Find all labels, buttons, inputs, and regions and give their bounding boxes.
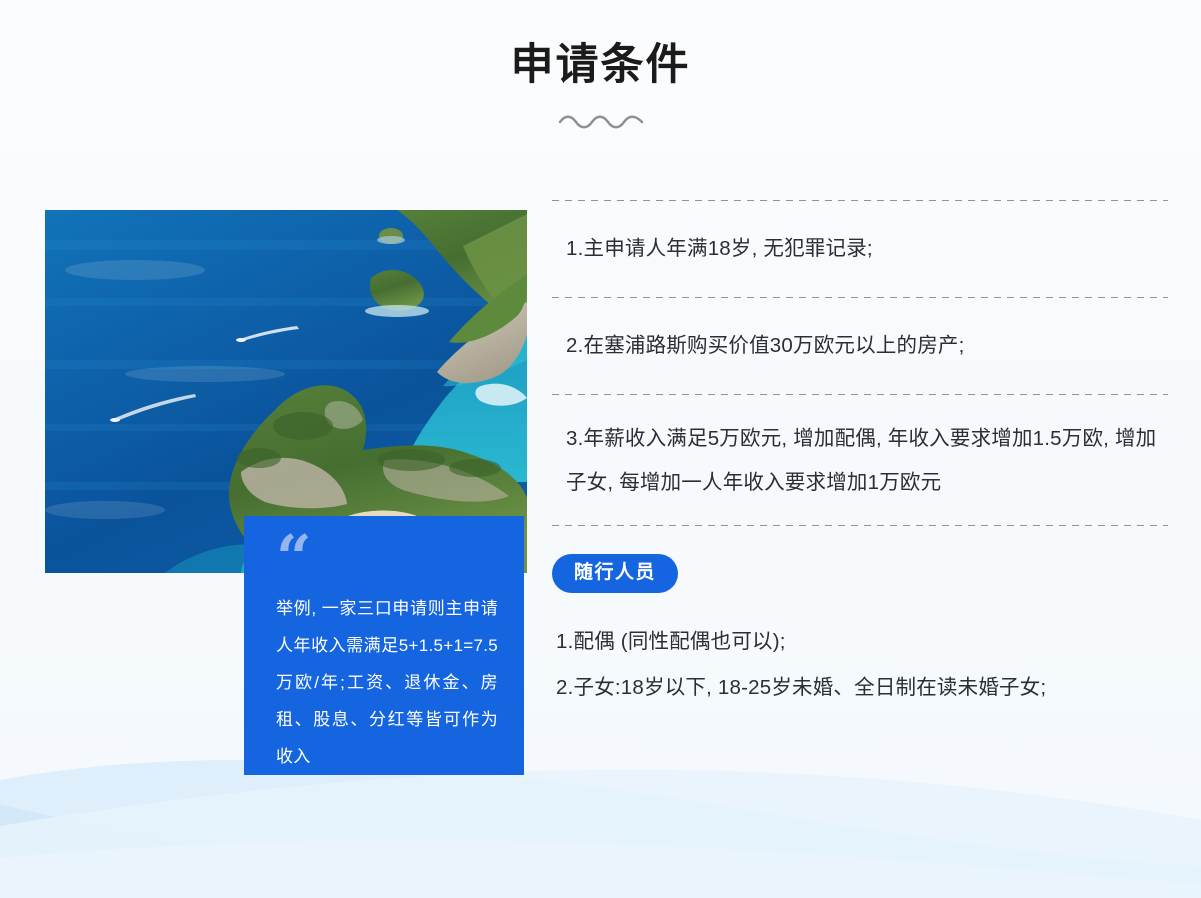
bottom-wave-decoration — [0, 708, 1201, 898]
page-title: 申请条件 — [0, 38, 1201, 92]
condition-item-1: 1.主申请人年满18岁, 无犯罪记录; — [552, 201, 1168, 297]
quote-text: 举例, 一家三口申请则主申请人年收入需满足5+1.5+1=7.5万欧/年;工资、… — [276, 590, 498, 775]
condition-item-2: 2.在塞浦路斯购买价值30万欧元以上的房产; — [552, 298, 1168, 394]
condition-item-3: 3.年薪收入满足5万欧元, 增加配偶, 年收入要求增加1.5万欧, 增加子女, … — [552, 395, 1168, 525]
status-badge: 随行人员 — [552, 554, 678, 593]
list-item: 2.子女:18岁以下, 18-25岁未婚、全日制在读未婚子女; — [556, 665, 1168, 711]
quote-card: “ 举例, 一家三口申请则主申请人年收入需满足5+1.5+1=7.5万欧/年;工… — [244, 516, 524, 775]
page-root: 申请条件 — [0, 0, 1201, 898]
accompanying-members-list: 1.配偶 (同性配偶也可以); 2.子女:18岁以下, 18-25岁未婚、全日制… — [552, 619, 1168, 711]
quote-mark-icon: “ — [276, 538, 498, 580]
list-item: 1.配偶 (同性配偶也可以); — [556, 619, 1168, 665]
wavy-underline-icon — [0, 108, 1201, 136]
conditions-panel: 1.主申请人年满18岁, 无犯罪记录; 2.在塞浦路斯购买价值30万欧元以上的房… — [552, 200, 1168, 711]
page-header: 申请条件 — [0, 0, 1201, 160]
accompanying-members-section: 随行人员 1.配偶 (同性配偶也可以); 2.子女:18岁以下, 18-25岁未… — [552, 526, 1168, 711]
